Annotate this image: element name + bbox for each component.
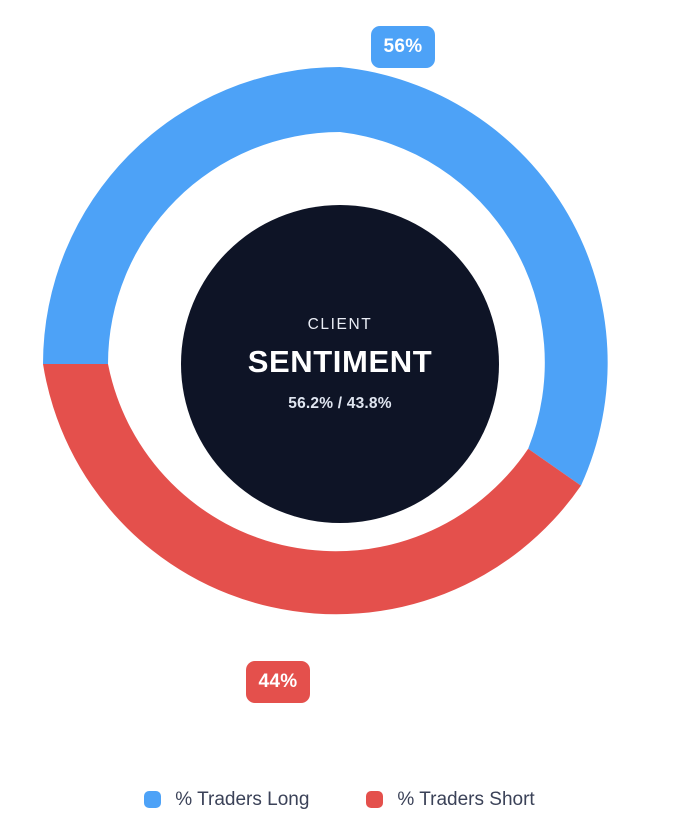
legend-item-label: % Traders Long — [175, 790, 309, 809]
legend-item-traders-short[interactable]: % Traders Short — [366, 790, 534, 809]
donut-chart-area: CLIENT SENTIMENT 56.2% / 43.8% 56% 44% — [0, 0, 679, 760]
square-swatch-icon — [144, 791, 161, 808]
value-badge-long-label: 56% — [384, 36, 423, 58]
value-badge-traders-short: 44% — [246, 661, 310, 703]
square-swatch-icon — [366, 791, 383, 808]
client-sentiment-donut-chart: CLIENT SENTIMENT 56.2% / 43.8% 56% 44% %… — [0, 0, 679, 836]
legend-item-traders-long[interactable]: % Traders Long — [144, 790, 309, 809]
legend-item-label: % Traders Short — [397, 790, 534, 809]
value-badge-traders-long: 56% — [371, 26, 435, 68]
donut-center-disc — [181, 205, 499, 523]
chart-legend: % Traders Long % Traders Short — [0, 790, 679, 809]
donut-svg — [0, 0, 679, 760]
value-badge-short-label: 44% — [259, 671, 298, 693]
